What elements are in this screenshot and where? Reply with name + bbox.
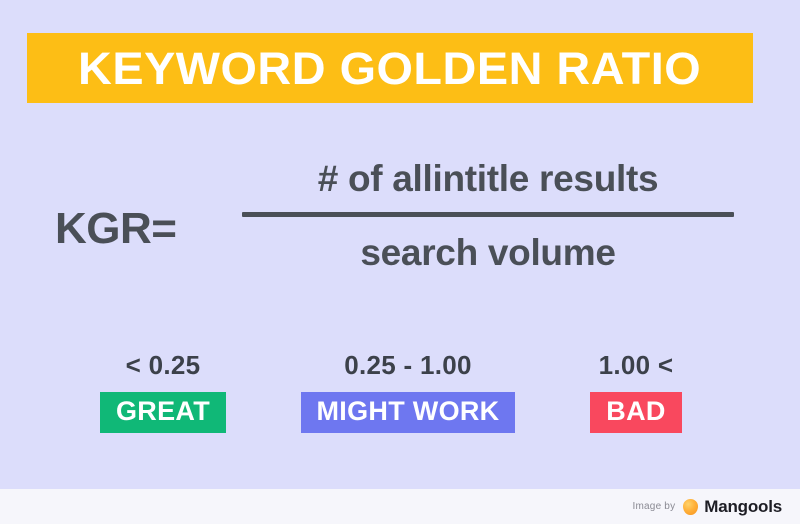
mango-icon — [683, 499, 698, 515]
title-banner: KEYWORD GOLDEN RATIO — [27, 33, 753, 103]
range-value-great: < 0.25 — [62, 352, 264, 378]
infographic-canvas: KEYWORD GOLDEN RATIO KGR= # of allintitl… — [0, 0, 800, 489]
range-value-might-work: 0.25 - 1.00 — [280, 352, 536, 378]
range-value-bad: 1.00 < — [560, 352, 712, 378]
status-badge-might-work: MIGHT WORK — [301, 392, 516, 433]
status-badge-bad: BAD — [590, 392, 681, 433]
scale-item-bad: 1.00 < BAD — [560, 352, 712, 433]
kgr-formula: KGR= # of allintitle results search volu… — [0, 160, 800, 310]
kgr-scale-row: < 0.25 GREAT 0.25 - 1.00 MIGHT WORK 1.00… — [0, 352, 800, 442]
footer-brand-name: Mangools — [704, 497, 782, 517]
scale-item-might-work: 0.25 - 1.00 MIGHT WORK — [280, 352, 536, 433]
footer-credit-label: Image by — [633, 501, 676, 512]
formula-denominator: search volume — [238, 217, 738, 271]
formula-left-label: KGR= — [55, 207, 176, 251]
footer-credit-bar: Image by Mangools — [0, 489, 800, 524]
infographic-root: KEYWORD GOLDEN RATIO KGR= # of allintitl… — [0, 0, 800, 524]
formula-fraction: # of allintitle results search volume — [238, 160, 738, 271]
scale-item-great: < 0.25 GREAT — [62, 352, 264, 433]
page-title: KEYWORD GOLDEN RATIO — [78, 46, 701, 91]
status-badge-great: GREAT — [100, 392, 226, 433]
formula-numerator: # of allintitle results — [238, 160, 738, 212]
